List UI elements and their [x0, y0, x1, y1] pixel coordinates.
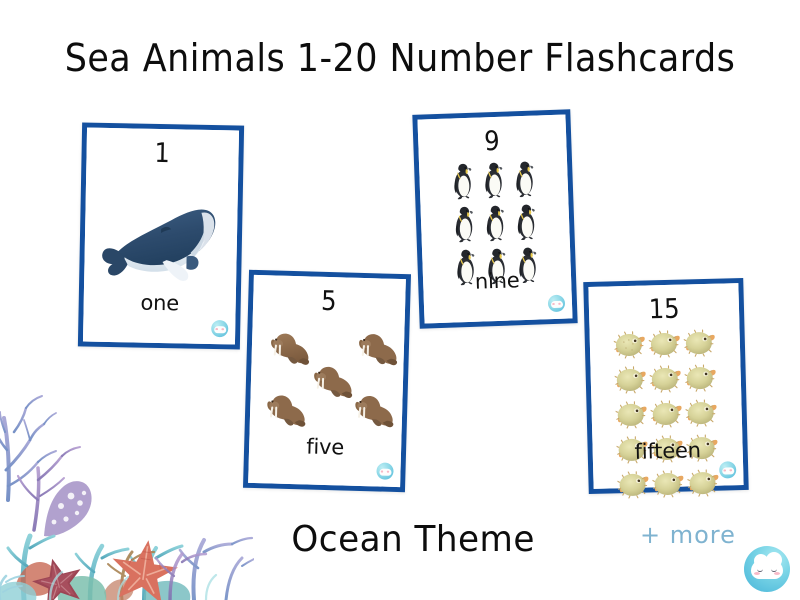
flashcard-five-word: five [251, 433, 400, 461]
pufferfish-illustration [649, 364, 683, 399]
pufferfish-illustration [614, 364, 648, 399]
flashcard-five-numeral: 5 [321, 288, 337, 315]
more-label: + more [640, 521, 736, 549]
penguin-illustration [480, 161, 507, 205]
penguin-illustration [481, 204, 508, 248]
coral-reef-decoration [0, 300, 254, 600]
puffer-last-row [603, 467, 734, 504]
walrus-illustration [352, 390, 397, 436]
pufferfish-illustration [684, 363, 718, 398]
flashcard-nine[interactable]: 9 [412, 109, 577, 328]
walrus-illustration [267, 327, 312, 373]
card-watermark-icon [376, 462, 393, 479]
pufferfish-illustration [613, 330, 647, 365]
pufferfish-illustration [648, 329, 682, 364]
flashcard-nine-objects [447, 159, 543, 274]
page-title: Sea Animals 1-20 Number Flashcards [32, 36, 768, 80]
pufferfish-illustration [685, 398, 719, 433]
sleeping-cloud-logo-icon [744, 546, 790, 592]
flashcard-five-inner: 5 [248, 275, 406, 487]
flashcard-nine-numeral: 9 [484, 128, 500, 156]
blush-right [774, 572, 780, 575]
flashcard-five-objects [259, 325, 394, 439]
flashcard-fifteen[interactable]: 15 [583, 278, 748, 494]
flashcard-fifteen-numeral: 15 [648, 296, 680, 324]
card-watermark-icon [548, 295, 566, 313]
blush-left [754, 572, 760, 575]
pufferfish-illustration [650, 399, 684, 434]
whale-illustration [100, 194, 222, 287]
slide-canvas: Sea Animals 1-20 Number Flashcards 1 [0, 0, 800, 600]
penguin-illustration [511, 160, 538, 204]
flashcard-fifteen-word: fifteen [594, 437, 741, 465]
penguin-illustration [451, 205, 478, 249]
walrus-illustration [355, 328, 400, 374]
card-watermark-icon [719, 461, 736, 478]
flashcard-fifteen-inner: 15 [588, 283, 743, 489]
pufferfish-illustration [652, 469, 686, 504]
flashcard-one-objects [86, 184, 236, 299]
pufferfish-illustration [615, 399, 649, 434]
penguin-illustration [512, 202, 539, 246]
flashcard-nine-word: nine [425, 266, 570, 295]
walrus-illustration [310, 361, 355, 407]
flashcard-five[interactable]: 5 [243, 270, 411, 492]
flashcard-fifteen-objects [600, 327, 733, 448]
penguin-illustration [449, 162, 476, 206]
pufferfish-illustration [683, 328, 717, 363]
pufferfish-illustration [687, 468, 721, 503]
sleepy-eyes [757, 568, 777, 574]
pufferfish-illustration [617, 469, 651, 504]
walrus-illustration [263, 389, 308, 435]
flashcard-one-numeral: 1 [155, 140, 171, 167]
flashcard-nine-inner: 9 [417, 114, 572, 323]
ocean-theme-label: Ocean Theme [291, 519, 534, 560]
